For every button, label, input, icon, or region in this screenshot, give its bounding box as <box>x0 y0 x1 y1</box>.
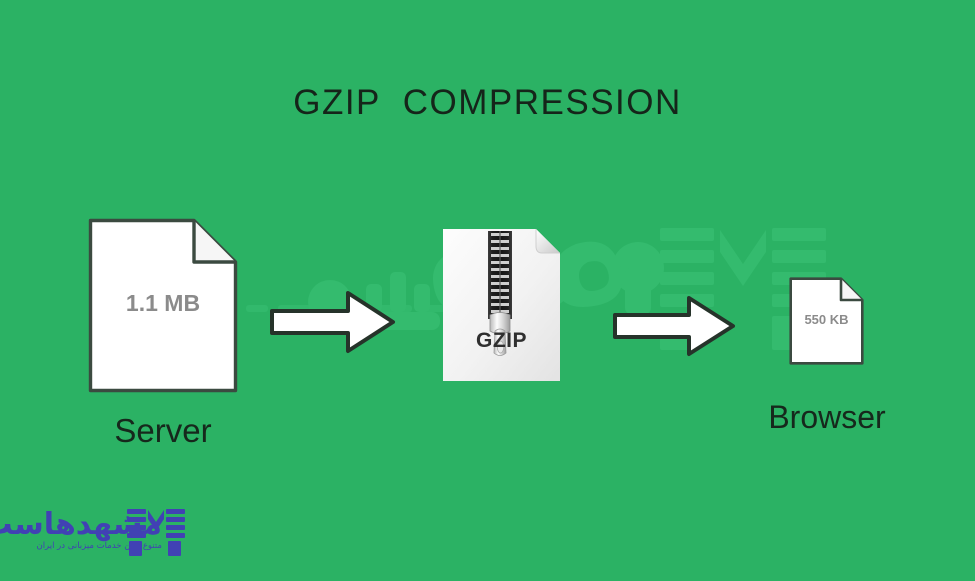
server-rack-m-icon <box>127 509 185 557</box>
site-logo[interactable]: مشهدهاست متنوع ترین خدمات میزبانی در ایر… <box>20 505 250 567</box>
gzip-label: GZIP <box>443 329 560 353</box>
right-arrow-icon <box>269 289 396 355</box>
browser-caption: Browser <box>742 399 912 436</box>
right-arrow-icon <box>612 294 736 358</box>
browser-file-size: 550 KB <box>789 312 864 327</box>
browser-document: 550 KB <box>789 277 864 365</box>
server-document: 1.1 MB <box>88 218 238 393</box>
server-file-size: 1.1 MB <box>88 290 238 317</box>
server-caption: Server <box>88 412 238 450</box>
diagram-title: GZIP COMPRESSION <box>0 83 975 123</box>
gzip-archive: GZIP <box>443 229 560 381</box>
zip-archive-icon <box>443 229 560 381</box>
diagram-canvas: GZIP COMPRESSION 1.1 MB Server <box>0 0 975 581</box>
